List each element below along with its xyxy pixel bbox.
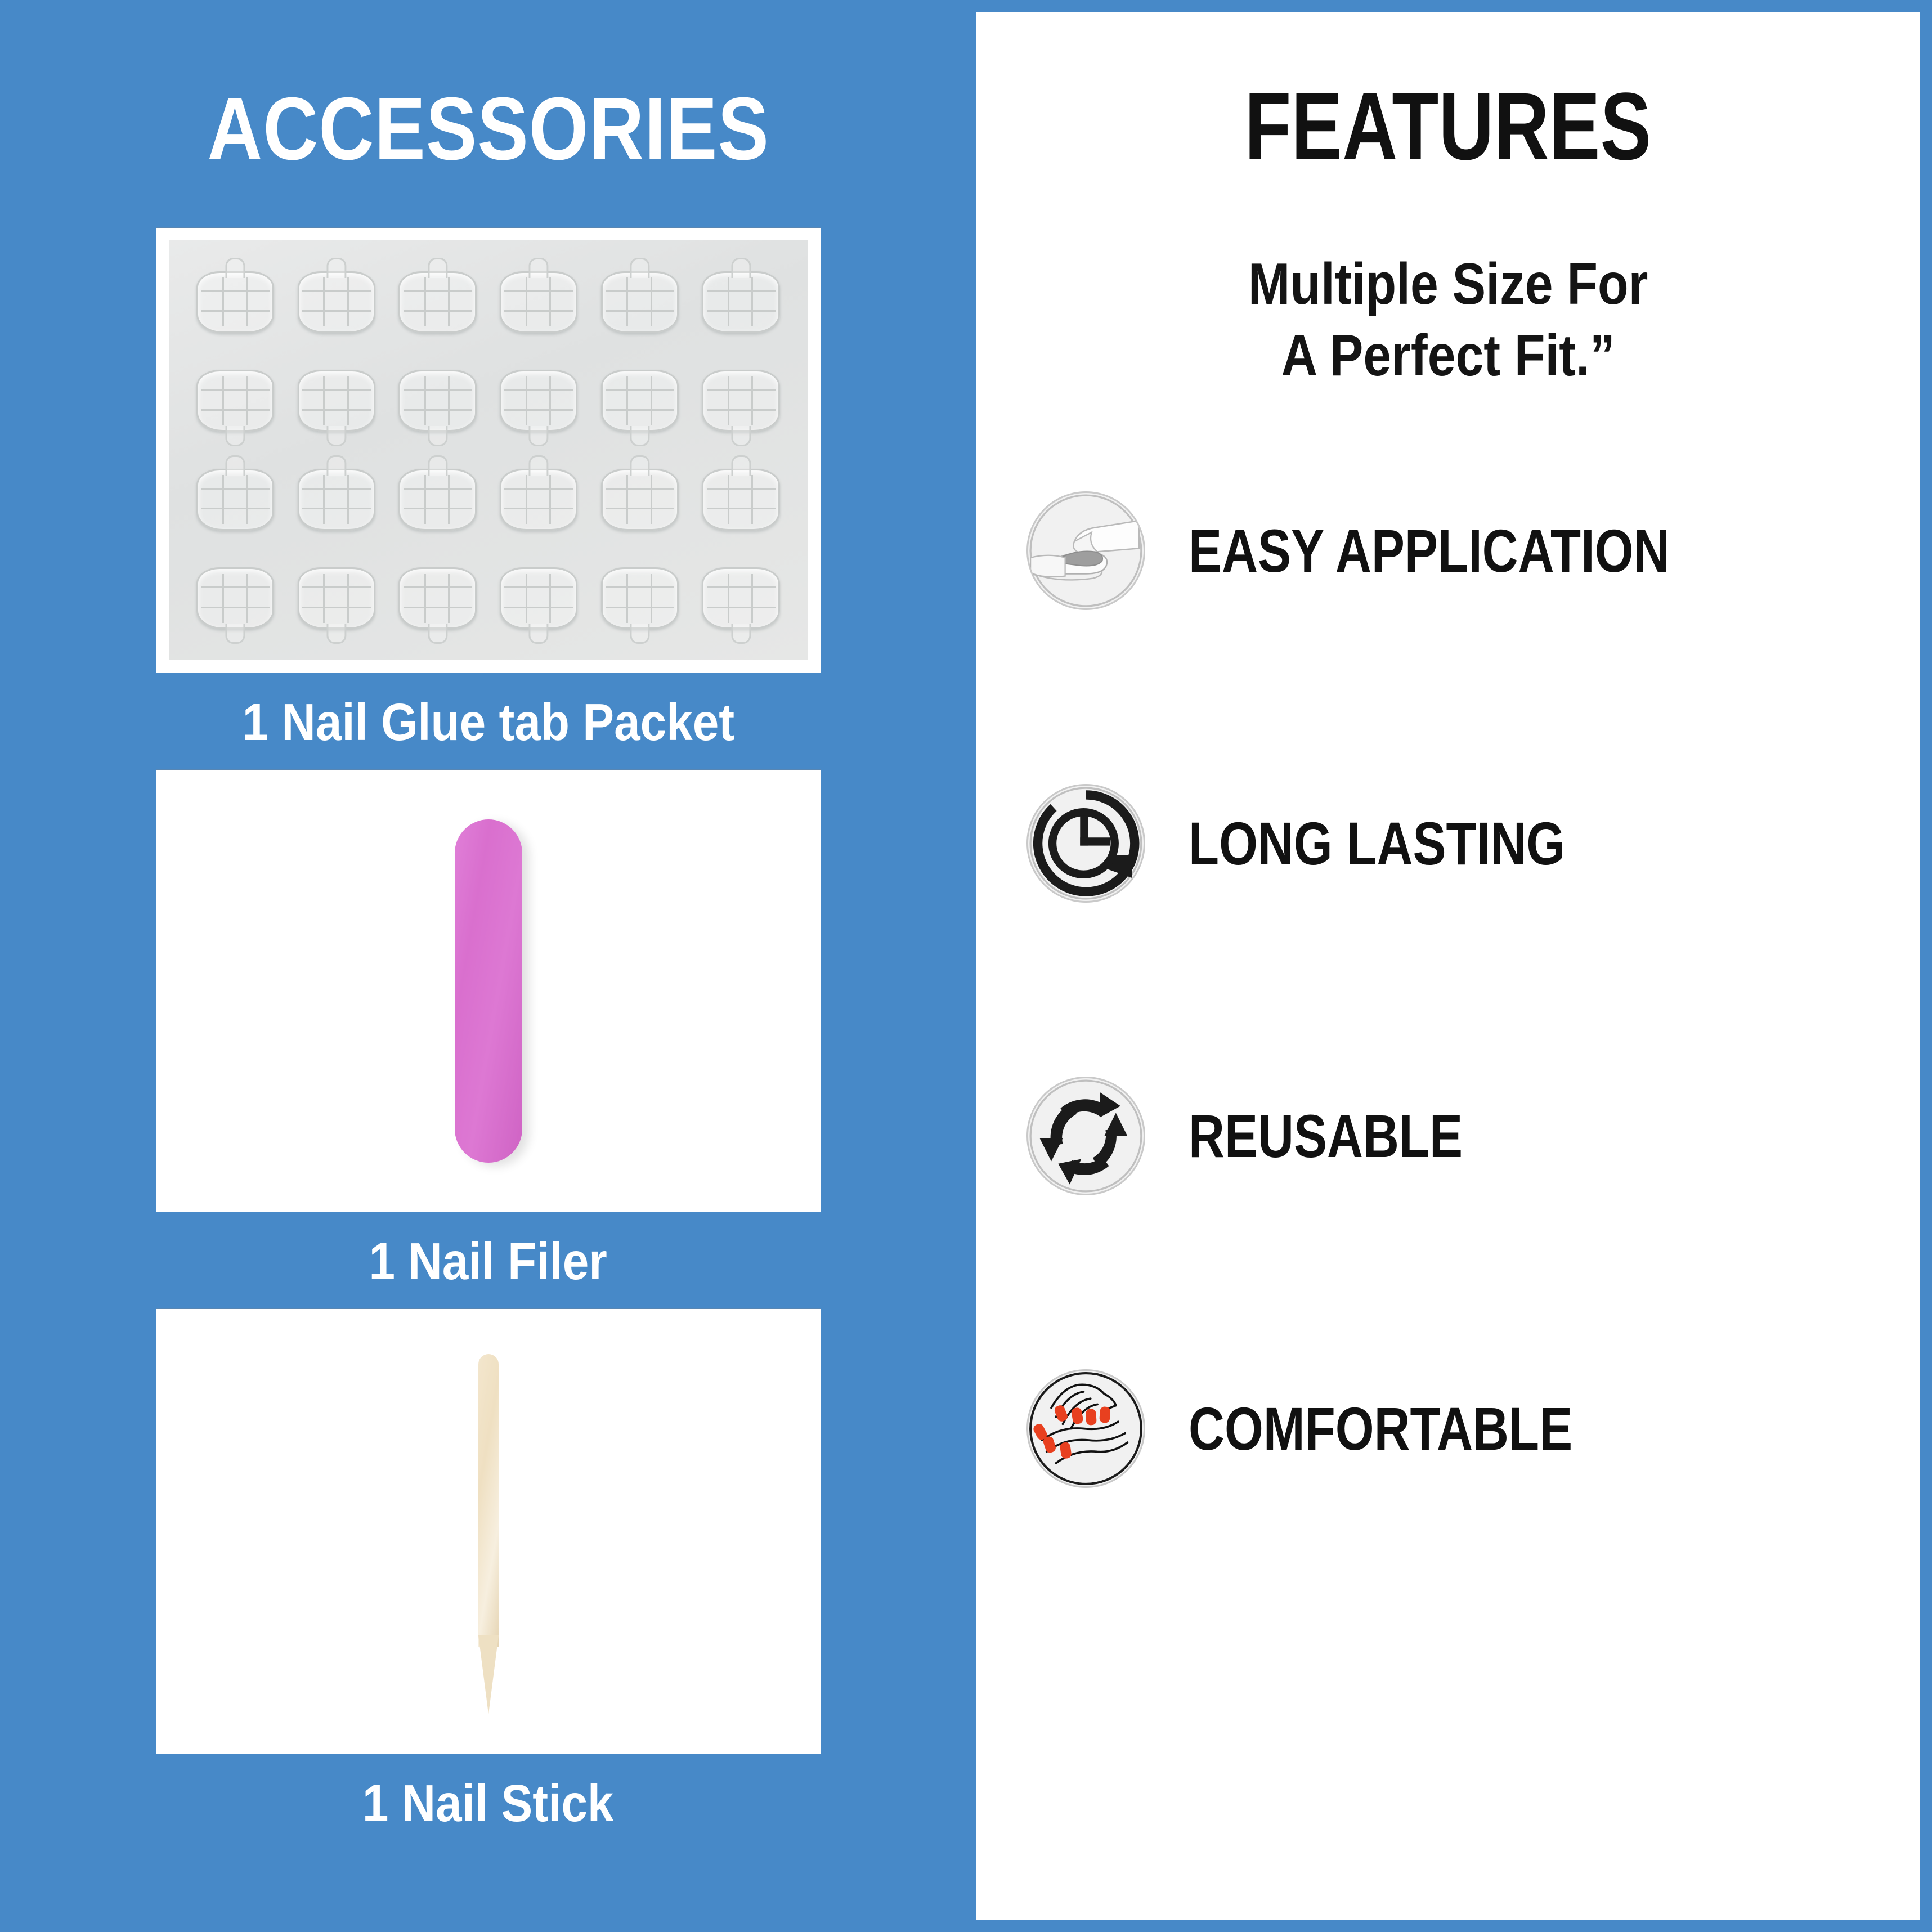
glue-tab (289, 354, 384, 449)
accessory-caption: 1 Nail Filer (369, 1235, 607, 1288)
feature-label: COMFORTABLE (1189, 1398, 1572, 1459)
accessory-caption: 1 Nail Stick (362, 1777, 614, 1830)
nail-stick-photo-card (156, 1309, 821, 1754)
feature-label: REUSABLE (1189, 1106, 1463, 1167)
recycle-arrows-icon (1028, 1078, 1144, 1194)
accessories-title: ACCESSORIES (207, 84, 769, 173)
glue-tab (491, 354, 587, 449)
finger-pressing-nail-icon (1028, 493, 1144, 608)
nail-file-icon (455, 819, 522, 1163)
glue-tab (289, 255, 384, 349)
glue-tab (390, 552, 486, 646)
glue-tab (592, 552, 688, 646)
glue-tab (693, 452, 789, 547)
glue-tab (491, 255, 587, 349)
features-panel: FEATURES Multiple Size For A Perfect Fit… (976, 0, 1932, 1932)
glue-tab (390, 354, 486, 449)
features-panel-inner: FEATURES Multiple Size For A Perfect Fit… (976, 12, 1920, 1920)
glue-tab (592, 452, 688, 547)
product-infographic: ACCESSORIES (0, 0, 1932, 1932)
accessory-caption: 1 Nail Glue tab Packet (242, 696, 734, 748)
glue-tab (491, 552, 587, 646)
glue-tab (289, 552, 384, 646)
clock-arrow-icon (1028, 786, 1144, 901)
glue-tab (289, 452, 384, 547)
feature-row-easy-application: EASY APPLICATION (1028, 486, 1775, 616)
glue-tab (592, 354, 688, 449)
glue-tab (188, 552, 284, 646)
glue-tab (390, 255, 486, 349)
glue-tab (390, 452, 486, 547)
glue-tab (188, 452, 284, 547)
accessories-panel: ACCESSORIES (0, 0, 976, 1932)
feature-label: EASY APPLICATION (1189, 521, 1670, 581)
glue-tab-grid (188, 255, 789, 646)
glue-tab (693, 255, 789, 349)
glue-tab-sheet-icon (169, 240, 808, 660)
glue-tab-photo-card (156, 228, 821, 673)
nail-stick-icon (478, 1354, 499, 1709)
features-title: FEATURES (1245, 79, 1652, 174)
features-subtitle: Multiple Size For A Perfect Fit.” (1248, 249, 1648, 392)
glue-tab (592, 255, 688, 349)
feature-row-reusable: REUSABLE (1028, 1072, 1523, 1201)
glue-tab (693, 354, 789, 449)
features-list: EASY APPLICATION LONG LA (976, 486, 1920, 1494)
glue-tab (693, 552, 789, 646)
feature-label: LONG LASTING (1189, 813, 1565, 874)
accessory-item-nail-filer: 1 Nail Filer (156, 770, 821, 1288)
feature-row-long-lasting: LONG LASTING (1028, 779, 1648, 908)
nail-filer-photo-card (156, 770, 821, 1212)
feature-row-comfortable: COMFORTABLE (1028, 1364, 1657, 1494)
accessory-item-nail-stick: 1 Nail Stick (156, 1309, 821, 1830)
glue-tab (188, 354, 284, 449)
accessory-item-glue-tabs: 1 Nail Glue tab Packet (156, 228, 821, 748)
hands-with-red-nails-icon (1028, 1371, 1144, 1486)
glue-tab (188, 255, 284, 349)
glue-tab (491, 452, 587, 547)
